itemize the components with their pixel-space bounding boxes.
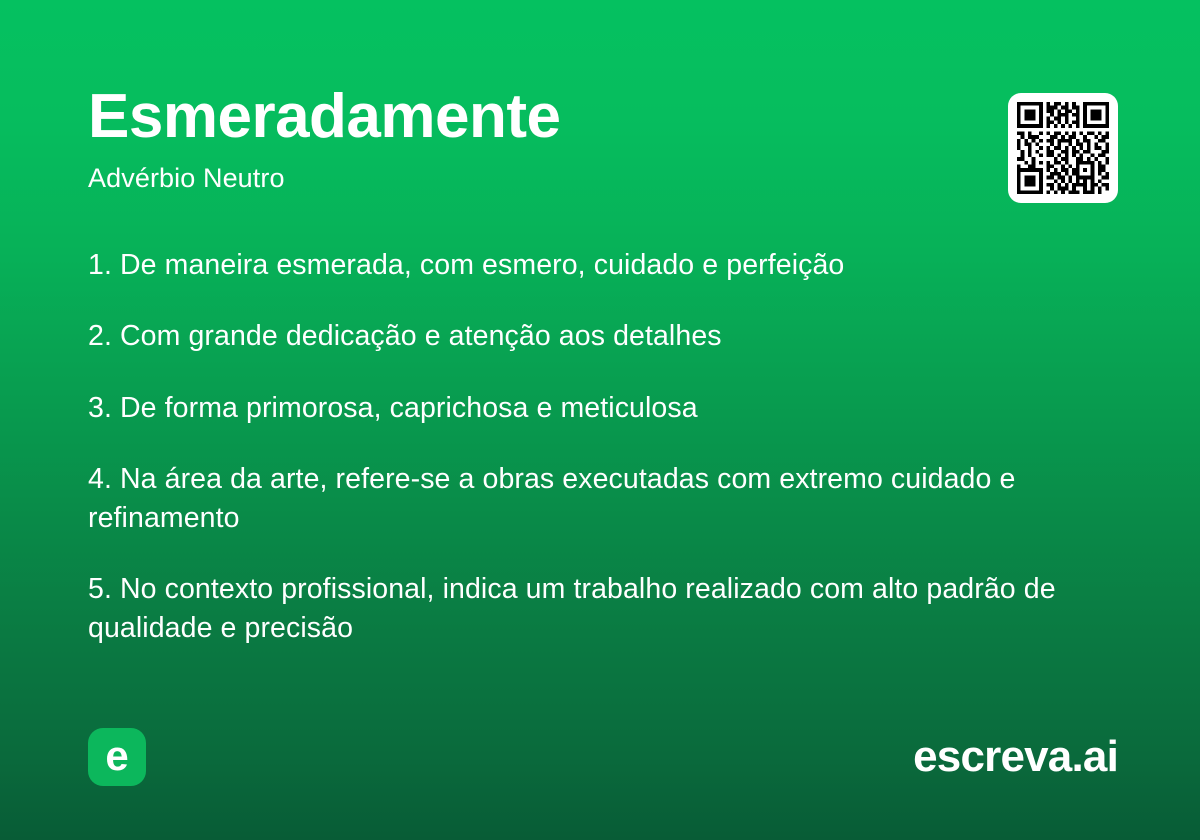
definition-item: 4. Na área da arte, refere-se a obras ex… [88, 460, 1078, 537]
brand-logo-icon[interactable]: e [88, 728, 146, 786]
qr-code-icon [1017, 102, 1109, 194]
brand-logo-letter: e [105, 735, 128, 777]
qr-code-badge[interactable] [1008, 93, 1118, 203]
definition-item: 5. No contexto profissional, indica um t… [88, 570, 1078, 647]
definition-list: 1. De maneira esmerada, com esmero, cuid… [88, 246, 1078, 647]
definition-item: 3. De forma primorosa, caprichosa e meti… [88, 389, 1078, 427]
card-header: Esmeradamente Advérbio Neutro [88, 86, 1112, 194]
page-title: Esmeradamente [88, 86, 1112, 148]
brand-wordmark: escreva.ai [913, 735, 1118, 779]
word-classification: Advérbio Neutro [88, 164, 1112, 194]
card-footer: e escreva.ai [88, 726, 1118, 788]
definition-item: 2. Com grande dedicação e atenção aos de… [88, 317, 1078, 355]
word-definition-card: Esmeradamente Advérbio Neutro [0, 0, 1200, 840]
definition-item: 1. De maneira esmerada, com esmero, cuid… [88, 246, 1078, 284]
